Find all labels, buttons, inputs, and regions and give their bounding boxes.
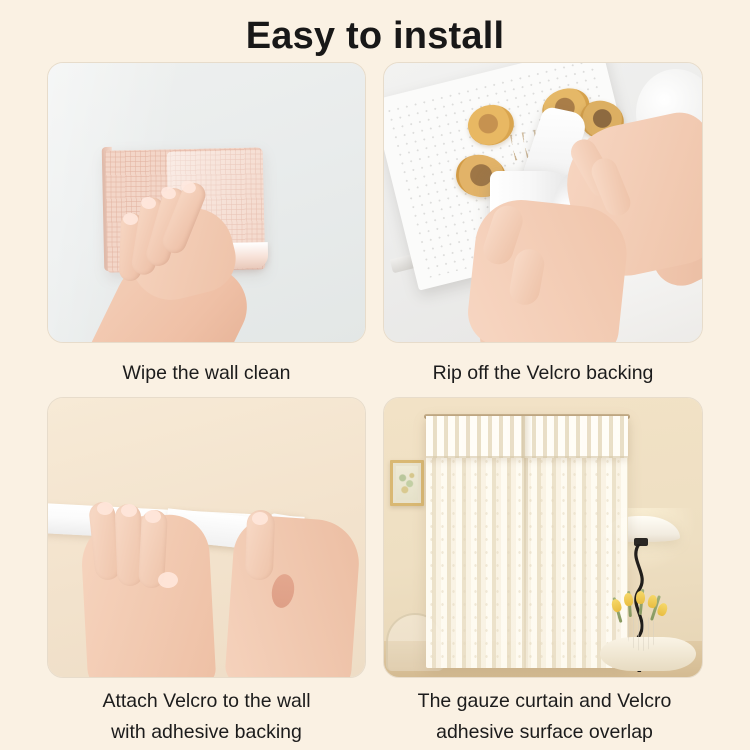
caption-line: with adhesive backing [40, 717, 373, 748]
tulip-flower [610, 598, 623, 613]
left-hand [465, 195, 632, 342]
step-image-card-1 [47, 62, 366, 343]
step-caption-1: Wipe the wall clean [47, 358, 366, 389]
white-vase [628, 617, 656, 651]
fingernail [252, 512, 268, 525]
step-caption-2: Rip off the Velcro backing [383, 358, 703, 389]
caption-line: The gauze curtain and Velcro [378, 686, 711, 717]
tulip-flower [636, 591, 645, 604]
step-image-card-4 [383, 397, 703, 678]
step-image-card-2 [383, 62, 703, 343]
caption-line: adhesive surface overlap [378, 717, 711, 748]
fingernail [145, 510, 161, 523]
caption-line: Wipe the wall clean [47, 358, 366, 389]
fingernail [97, 502, 113, 515]
product-infographic: Easy to install Wipe the wall clean [0, 0, 750, 750]
room-with-gauze-curtain-installed-image [384, 398, 702, 677]
step-caption-3: Attach Velcro to the wall with adhesive … [40, 686, 373, 748]
step-image-card-3 [47, 397, 366, 678]
fingernail [158, 572, 178, 588]
hands-peeling-velcro-tape-roll-image [384, 63, 702, 342]
step-caption-4: The gauze curtain and Velcro adhesive su… [378, 686, 711, 748]
fingernail [121, 504, 137, 517]
tulip-flower [623, 593, 633, 607]
caption-line: Attach Velcro to the wall [40, 686, 373, 717]
hand-wiping-wall-with-pink-cloth-image [48, 63, 365, 342]
hands-attaching-velcro-strip-to-wall-image [48, 398, 365, 677]
valance-split [522, 416, 532, 458]
framed-botanical-print [390, 460, 424, 506]
caption-line: Rip off the Velcro backing [383, 358, 703, 389]
page-title: Easy to install [0, 14, 750, 58]
